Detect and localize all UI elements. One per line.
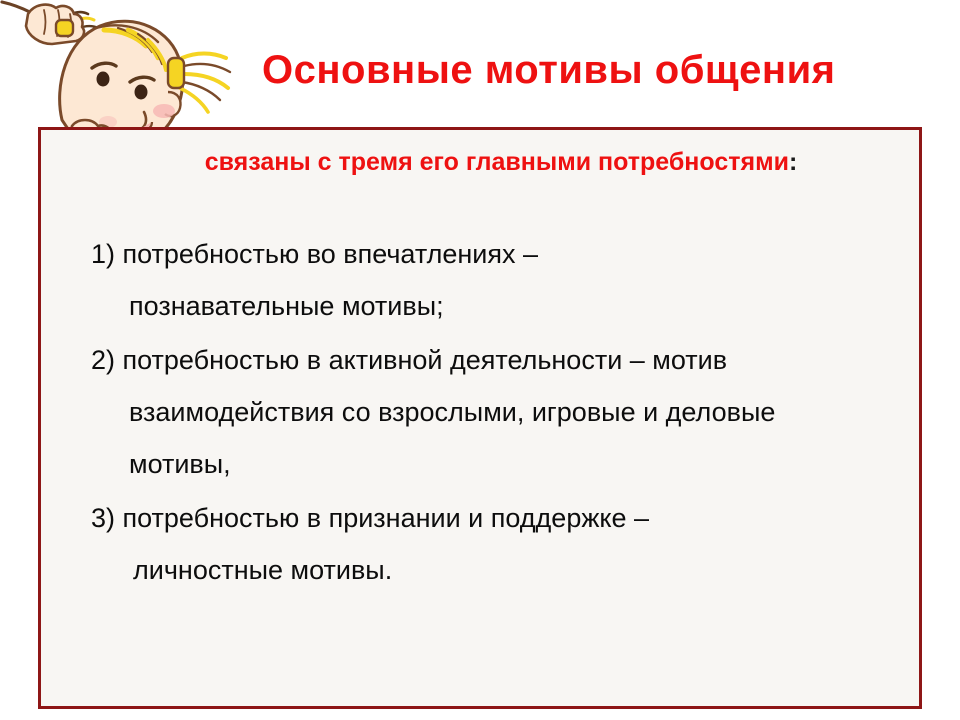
slide-canvas: Основные мотивы общения (0, 0, 960, 720)
motives-list: 1) потребностью во впечатлениях – познав… (91, 228, 911, 598)
girl-eyes (97, 72, 148, 100)
list-item-line: 2) потребностью в активной деятельности … (91, 334, 911, 386)
list-item: 1) потребностью во впечатлениях – познав… (91, 228, 911, 332)
girl-hair (96, 25, 166, 70)
list-item-line: личностные мотивы. (91, 544, 911, 596)
girl-eyebrows (92, 63, 154, 82)
list-item-line: мотивы, (91, 438, 911, 490)
content-box: связаны с тремя его главными потребностя… (38, 127, 922, 709)
cartoon-girl-illustration (0, 0, 250, 145)
subtitle-text: связаны с тремя его главными потребностя… (205, 148, 789, 176)
girl-right-pigtail (168, 54, 230, 113)
list-item: 2) потребностью в активной деятельности … (91, 334, 911, 490)
girl-hand (26, 5, 84, 44)
list-item-line: 3) потребностью в признании и поддержке … (91, 492, 911, 544)
page-title: Основные мотивы общения (262, 50, 882, 90)
girl-left-pigtail-strand (2, 2, 58, 30)
subtitle: связаны с тремя его главными потребностя… (121, 148, 881, 177)
subtitle-punctuation: : (789, 148, 797, 176)
girl-ear (165, 92, 181, 116)
list-item-line: познавательные мотивы; (91, 280, 911, 332)
list-item: 3) потребностью в признании и поддержке … (91, 492, 911, 596)
list-item-line: взаимодействия со взрослыми, игровые и д… (91, 386, 911, 438)
girl-cheek-blush (99, 104, 175, 128)
girl-left-pigtail-hair (62, 12, 98, 36)
girl-head (60, 21, 183, 132)
list-item-line: 1) потребностью во впечатлениях – (91, 228, 911, 280)
girl-left-hair-tie (56, 20, 73, 36)
